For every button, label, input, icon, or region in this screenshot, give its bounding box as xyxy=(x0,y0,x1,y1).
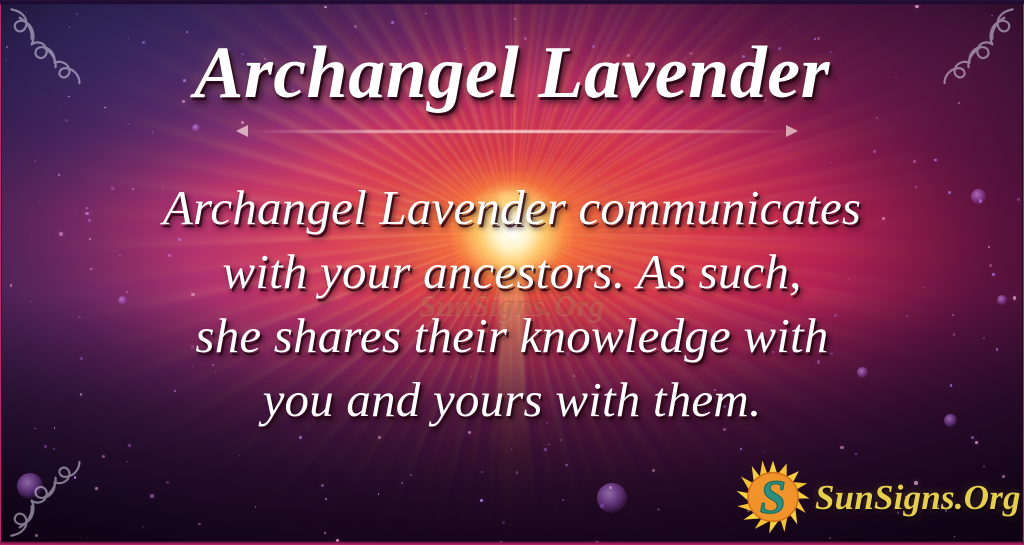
sun-monogram: S xyxy=(760,472,786,524)
archangel-lavender-banner: Archangel Lavender Archangel Lavender co… xyxy=(0,0,1024,545)
body-line-4: you and yours with them. xyxy=(34,368,990,432)
logo-brand-text: SunSigns.Org xyxy=(815,478,1021,518)
watermark-text: SunSigns.Org xyxy=(0,287,1024,323)
divider-arrow-left-icon xyxy=(236,125,248,137)
page-title: Archangel Lavender xyxy=(0,36,1024,110)
title-divider xyxy=(248,130,790,133)
sun-logo-icon: S xyxy=(735,459,811,535)
divider-arrow-right-icon xyxy=(786,125,798,137)
body-line-1: Archangel Lavender communicates xyxy=(34,176,990,240)
content-layer: Archangel Lavender Archangel Lavender co… xyxy=(0,0,1024,545)
sunsigns-logo[interactable]: S SunSigns.Org xyxy=(735,462,995,534)
